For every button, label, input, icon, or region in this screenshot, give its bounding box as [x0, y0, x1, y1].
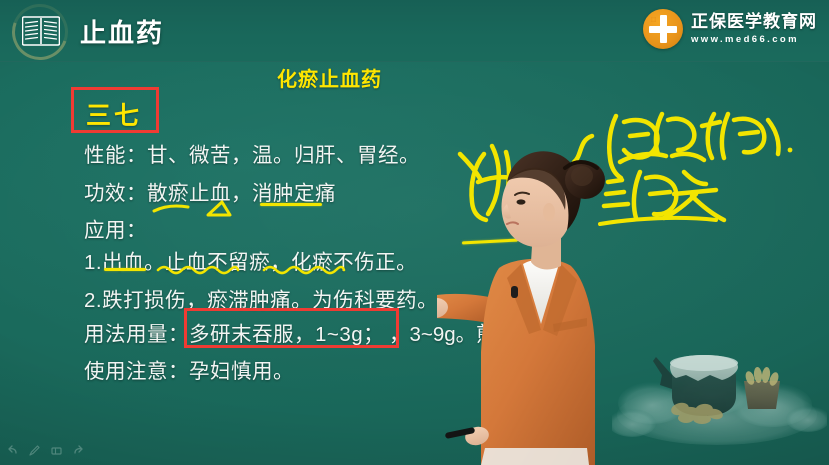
undo-icon[interactable]	[6, 444, 19, 457]
board-toolbar[interactable]	[6, 444, 85, 457]
brand-logo: 正保医学教育网 www.med66.com	[643, 9, 817, 49]
open-book-icon	[22, 16, 60, 46]
page-title: 止血药	[80, 13, 164, 50]
pen-icon[interactable]	[28, 444, 41, 457]
brand-url: www.med66.com	[691, 35, 817, 45]
presenter-instructor	[437, 118, 627, 465]
decorative-teapot-illustration	[612, 323, 827, 463]
slide-line-gongxiao: 功效：散瘀止血，消肿定痛	[84, 176, 336, 206]
brand-name: 正保医学教育网	[691, 13, 817, 30]
highlight-box-dosage	[184, 308, 399, 348]
medical-cross-icon	[643, 9, 683, 49]
slide-section-title: 化瘀止血药	[277, 63, 382, 92]
lecture-video-frame: 止血药 正保医学教育网 www.med66.com 化瘀止血药 三七 性能：甘、…	[0, 0, 829, 465]
redo-icon[interactable]	[72, 444, 85, 457]
eraser-icon[interactable]	[50, 444, 63, 457]
highlight-box-drug-name	[71, 87, 159, 133]
slide-line-yingyong: 应用：	[84, 213, 147, 243]
slide-line-zhuyi: 使用注意：孕妇慎用。	[84, 354, 294, 384]
slide-line-xingneng: 性能：甘、微苦，温。归肝、胃经。	[84, 138, 420, 168]
slide-line-yingyong-1: 1.出血。止血不留瘀，化瘀不伤正。	[84, 245, 417, 275]
